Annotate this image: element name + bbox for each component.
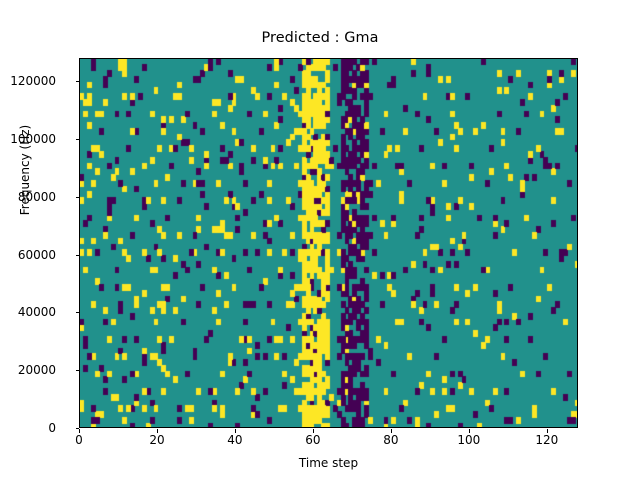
y-tick-label: 120000 <box>0 75 56 87</box>
x-tick-label: 0 <box>49 434 109 446</box>
x-tick-label: 100 <box>439 434 499 446</box>
x-tick-label: 120 <box>517 434 577 446</box>
x-tick-label: 60 <box>283 434 343 446</box>
x-tick-label: 40 <box>205 434 265 446</box>
x-tick-mark <box>391 429 392 433</box>
y-tick-label: 20000 <box>0 364 56 376</box>
x-tick-mark <box>235 429 236 433</box>
x-tick-mark <box>547 429 548 433</box>
matplotlib-figure: Predicted : Gma Frequency (Hz) 020000400… <box>0 0 640 480</box>
x-tick-mark <box>313 429 314 433</box>
x-axis-label: Time step <box>79 456 578 470</box>
y-tick-label: 40000 <box>0 306 56 318</box>
y-tick-label: 80000 <box>0 191 56 203</box>
page-title: Predicted : Gma <box>0 30 640 46</box>
heatmap-canvas[interactable] <box>80 59 578 428</box>
x-tick-label: 20 <box>127 434 187 446</box>
y-tick-label: 100000 <box>0 133 56 145</box>
x-tick-label: 80 <box>361 434 421 446</box>
y-axis-label: Frequency (Hz) <box>18 90 32 250</box>
x-tick-mark <box>157 429 158 433</box>
heatmap-plot-area[interactable] <box>79 58 578 428</box>
y-tick-label: 0 <box>0 422 56 434</box>
y-tick-label: 60000 <box>0 249 56 261</box>
x-tick-mark <box>469 429 470 433</box>
x-tick-mark <box>79 429 80 433</box>
